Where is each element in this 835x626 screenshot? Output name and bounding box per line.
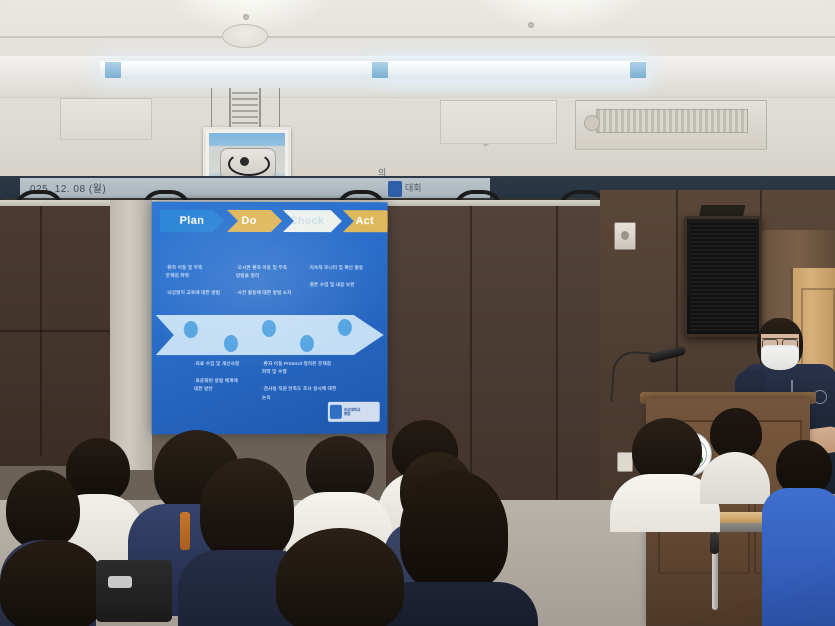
slide-logo-line2: 병원 [344,412,360,417]
light-strip-end-right [630,62,646,78]
desk-leg-cap [710,532,719,554]
banner-right-text: 대회 [405,181,422,194]
slide-logo-text: 조선대학교 병원 [344,407,360,416]
projector-cable-loop [228,152,270,176]
process-dot-3 [262,320,276,337]
process-dot-4 [300,335,314,352]
process-dot-5 [338,319,352,336]
audience-member-scrubs [762,440,835,626]
pdca-header: Plan Do Check Act [160,210,380,232]
wall-seam-4 [556,206,558,506]
wall-sensor-icon [621,231,629,240]
chair-back [96,560,172,622]
face-mask-icon [761,345,799,370]
ceiling-sensor-icon-2 [528,22,534,28]
ceiling-access-panel-2 [60,98,152,140]
pdca-step-do-label: Do [241,215,256,227]
process-dot-2 [224,335,238,352]
slide-text-bottom-1: ·자료 수집 및 개선사항 ·표준화된 방법 체계에 대한 방안 [194,360,256,394]
projector-wire-left [211,88,212,128]
pdca-step-check: Check [272,210,342,232]
ac-vent-knob [584,115,600,131]
speaker-grill-icon [690,222,756,331]
wall-panel-left [0,206,122,466]
chair-label [108,576,132,588]
slide-institution-logo: 조선대학교 병원 [328,402,380,422]
ceiling-sensor-icon [243,14,249,20]
banner-logo-icon [388,181,402,197]
wall-seam-2 [0,330,122,332]
pdca-step-plan-label: Plan [180,215,205,227]
pdca-step-plan: Plan [160,210,224,232]
pdca-step-act-label: Act [355,215,374,227]
pdca-step-check-label: Check [290,215,324,227]
slide-logo-mark-icon [330,405,342,419]
ceiling-seam [0,36,835,38]
audience-member-back-3 [700,408,770,498]
light-strip-end-left [105,62,121,78]
ac-vent-louvers [596,109,748,133]
ceiling-light-strip-2 [380,61,645,79]
audience-member-front-3 [260,528,430,626]
audience-head [276,528,404,626]
projection-screen: Plan Do Check Act ·환자 이동 및 부족 문제점 파악 ·낙상… [152,202,388,435]
wall-sensor-box [614,222,636,250]
slide-text-bottom-2: ·환자 이동 Protocol 정리된 문제점 파악 및 수행 ·검사실 직원 … [262,360,338,403]
slide-text-top-1: ·환자 이동 및 부족 문제점 파악 ·낙상방지 교육에 대한 방법 [166,264,228,298]
slide-text-top-3: ·지속적 모니터 및 확인 활동 ·결론 수렴 및 내용 보완 [308,264,376,289]
audience-torso [700,452,770,504]
slide-text-top-2: ·오시면 환자 이동 및 부족 방법을 정리 ·사전 활동에 대한 방법 소지 [236,264,304,298]
audience-head [0,540,104,626]
banner-left-text: 의 [378,166,386,179]
ceiling-speaker-icon [222,24,268,48]
ac-vent [575,100,767,150]
water-bottle [180,512,190,550]
light-strip-joint [372,62,388,78]
process-dot-1 [184,321,198,338]
audience-torso [762,488,835,626]
audience-head [6,470,80,550]
ceiling-access-panel [440,100,557,144]
projector-lens-icon [240,157,249,166]
pdca-step-do: Do [216,210,282,232]
projector-wire-right [279,88,280,128]
conference-room-scene: 025. 12. 08 (월) 의 대회 [0,0,835,626]
